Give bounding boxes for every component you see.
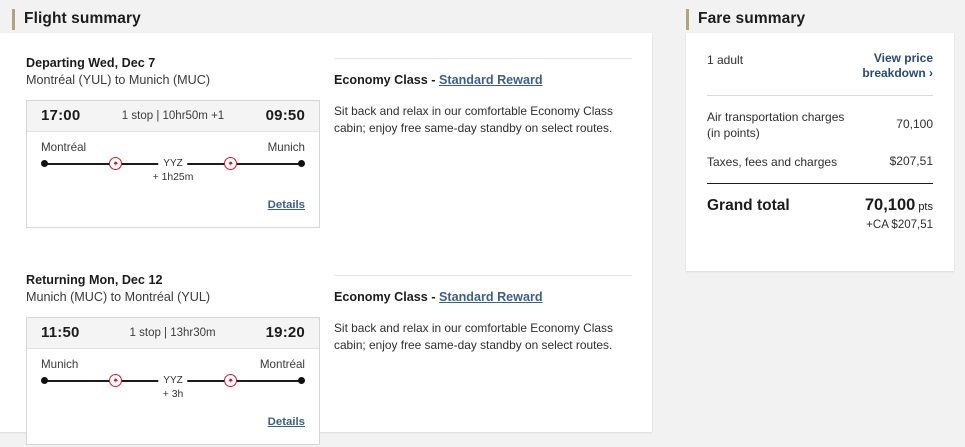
flight-leg-outbound: Departing Wed, Dec 7 Montréal (YUL) to M… [0,55,652,228]
details-link[interactable]: Details [268,199,305,211]
maple-leaf-roundel-icon [224,157,237,170]
origin-dot [41,377,48,384]
grand-total-values: 70,100pts +CA $207,51 [865,196,933,231]
cabin-heading: Economy Class - Standard Reward [334,73,632,87]
flight-summary-page: Flight summary Departing Wed, Dec 7 Mont… [0,0,965,447]
grand-total-label: Grand total [707,197,790,215]
leg-date-label: Returning Mon, Dec 12 [26,272,322,288]
itinerary-body: Montréal Munich [27,132,319,227]
fare-row-value: 70,100 [896,109,933,131]
cabin-heading: Economy Class - Standard Reward [334,290,632,304]
departure-time: 17:00 [41,107,80,124]
details-link[interactable]: Details [268,416,305,428]
leg-cabin-block: Economy Class - Standard Reward Sit back… [322,55,632,228]
leg-itinerary-block: Departing Wed, Dec 7 Montréal (YUL) to M… [26,55,322,228]
cabin-divider [334,58,632,59]
fare-row-air-transportation: Air transportation charges (in points) 7… [707,96,933,141]
stops-duration-label: 1 stop | 13hr30m [130,327,216,339]
heading-accent-bar [686,9,689,30]
grand-total-unit: pts [918,201,933,213]
route-graphic: YYZ [41,374,305,387]
fare-summary-heading: Fare summary [686,0,954,33]
itinerary-box[interactable]: 17:00 1 stop | 10hr50m +1 09:50 Montréal… [26,100,320,228]
fare-summary-title: Fare summary [698,10,805,28]
passenger-count: 1 adult [707,51,743,67]
grand-total-points: 70,100 [865,196,915,214]
stops-duration-label: 1 stop | 10hr50m +1 [122,110,224,122]
maple-leaf-roundel-icon [224,374,237,387]
city-row: Munich Montréal [41,358,305,371]
flight-summary-heading: Flight summary [0,0,652,33]
arrival-time: 09:50 [266,107,305,124]
departure-time: 11:50 [41,324,80,341]
destination-dot [298,377,305,384]
route-graphic: YYZ [41,157,305,170]
fare-summary-column: Fare summary 1 adult View price breakdow… [686,0,954,271]
destination-dot [298,160,305,167]
leg-route-label: Munich (MUC) to Montréal (YUL) [26,289,322,306]
itinerary-header: 17:00 1 stop | 10hr50m +1 09:50 [27,101,319,132]
fare-summary-card: 1 adult View price breakdown › Air trans… [686,33,954,271]
flight-summary-column: Flight summary Departing Wed, Dec 7 Mont… [0,0,652,432]
leg-cabin-block: Economy Class - Standard Reward Sit back… [322,272,632,445]
grand-total-amount: 70,100pts [865,196,933,215]
layover-duration: + 3h [41,389,305,400]
itinerary-header: 11:50 1 stop | 13hr30m 19:20 [27,318,319,349]
origin-dot [41,160,48,167]
flight-leg-return: Returning Mon, Dec 12 Munich (MUC) to Mo… [0,272,652,445]
cabin-name: Economy Class - [334,290,439,304]
cabin-name: Economy Class - [334,73,439,87]
layover-duration: + 1h25m [41,172,305,183]
grand-total-row: Grand total 70,100pts +CA $207,51 [707,184,933,231]
origin-city: Montréal [41,141,86,154]
page-title: Flight summary [24,10,141,28]
origin-city: Munich [41,358,78,371]
destination-city: Montréal [260,358,305,371]
fare-row-label: Air transportation charges (in points) [707,109,852,141]
fare-row-label: Taxes, fees and charges [707,154,837,170]
leg-spacer [0,228,652,272]
arrival-time: 19:20 [266,324,305,341]
fare-brand-link[interactable]: Standard Reward [439,73,543,87]
fare-brand-link[interactable]: Standard Reward [439,290,543,304]
heading-accent-bar [12,9,15,30]
cabin-description: Sit back and relax in our comfortable Ec… [334,103,614,136]
maple-leaf-roundel-icon [109,374,122,387]
fare-row-taxes: Taxes, fees and charges $207,51 [707,141,933,170]
cabin-description: Sit back and relax in our comfortable Ec… [334,320,614,353]
destination-city: Munich [268,141,305,154]
itinerary-body: Munich Montréal [27,349,319,444]
grand-total-cash: +CA $207,51 [865,219,933,231]
connection-airport-code: YYZ [158,157,187,170]
itinerary-box[interactable]: 11:50 1 stop | 13hr30m 19:20 Munich Mont… [26,317,320,445]
view-price-breakdown-link[interactable]: View price breakdown › [815,51,933,81]
fare-row-value: $207,51 [890,154,933,168]
cabin-divider [334,275,632,276]
city-row: Montréal Munich [41,141,305,154]
leg-route-label: Montréal (YUL) to Munich (MUC) [26,72,322,89]
fare-passenger-row: 1 adult View price breakdown › [707,51,933,81]
connection-airport-code: YYZ [158,374,187,387]
leg-date-label: Departing Wed, Dec 7 [26,55,322,71]
flight-summary-card: Departing Wed, Dec 7 Montréal (YUL) to M… [0,33,652,432]
leg-itinerary-block: Returning Mon, Dec 12 Munich (MUC) to Mo… [26,272,322,445]
details-row: Details [41,183,305,221]
maple-leaf-roundel-icon [109,157,122,170]
details-row: Details [41,400,305,438]
